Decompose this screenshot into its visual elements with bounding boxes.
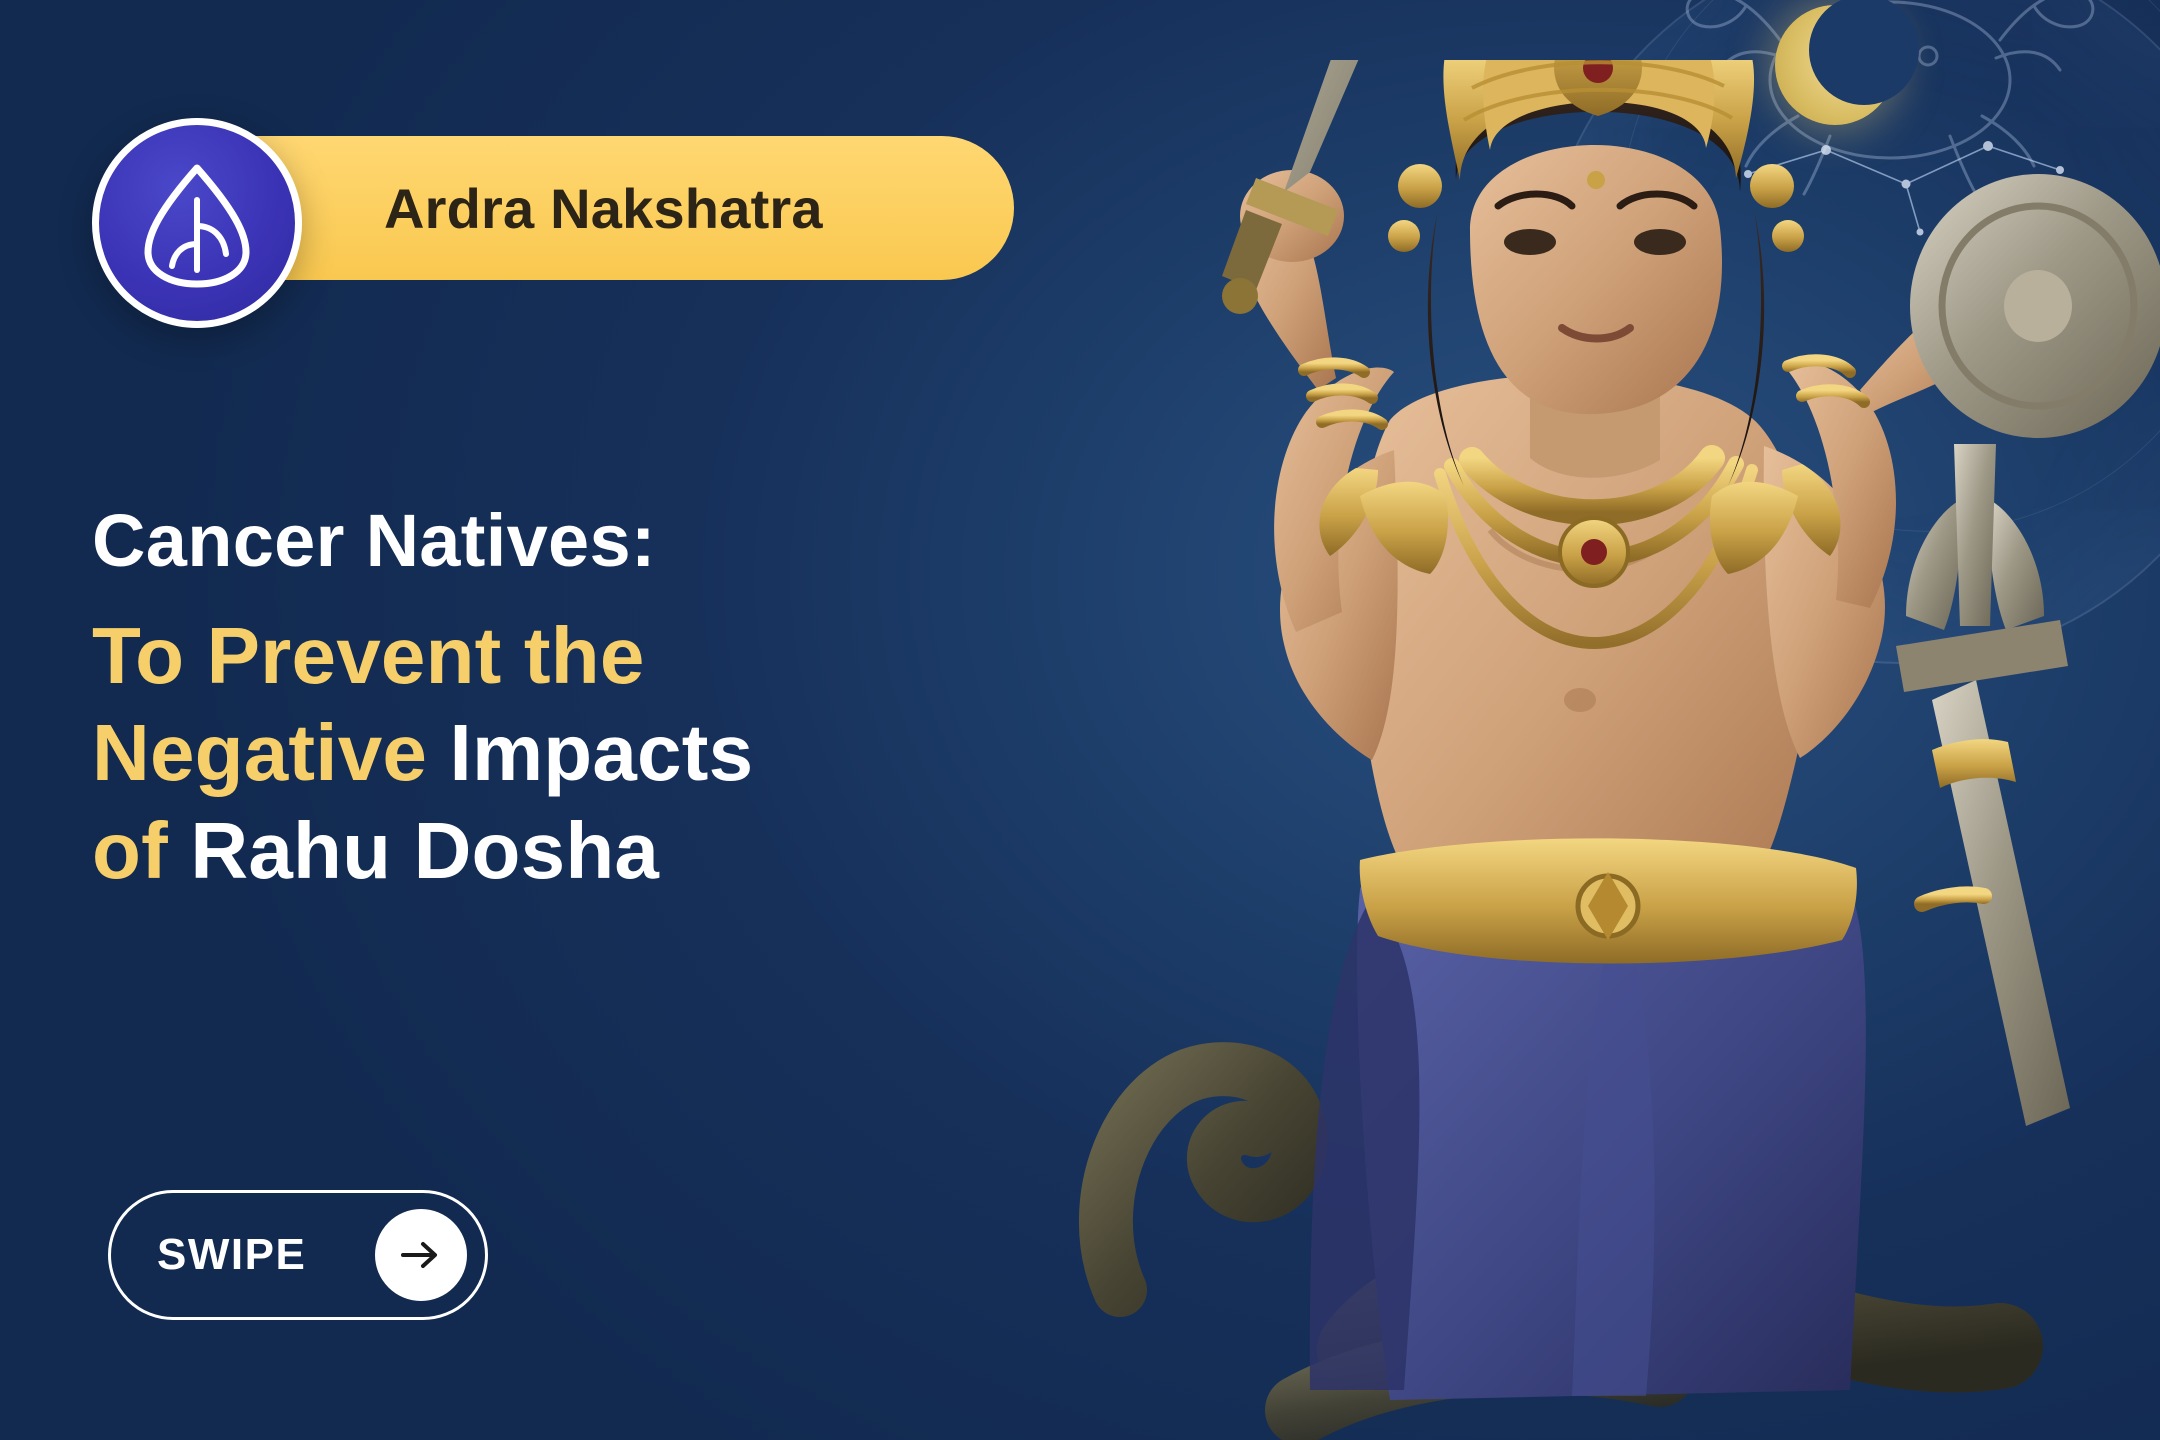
swipe-label: SWIPE [157, 1230, 306, 1280]
headline-line-4-white: Rahu Dosha [190, 806, 659, 895]
headline-line-3: Negative Impacts [92, 704, 1092, 802]
swipe-button[interactable]: SWIPE [108, 1190, 488, 1320]
rahu-deity-illustration [1060, 60, 2160, 1440]
headline-line-1: Cancer Natives: [92, 500, 1092, 583]
water-drop-leaf-logo-icon [138, 158, 256, 288]
brand-name: Ardra Nakshatra [384, 176, 823, 241]
shield-icon [1910, 174, 2160, 438]
headline-block: Cancer Natives: To Prevent the Negative … [92, 500, 1092, 900]
swipe-arrow-circle[interactable] [375, 1209, 467, 1301]
headline-line-3-gold: Negative [92, 708, 427, 797]
trident-icon [1896, 444, 2070, 1126]
headline-line-3-white: Impacts [450, 708, 754, 797]
brand-logo [92, 118, 302, 328]
arrow-right-icon [399, 1236, 443, 1274]
social-post-canvas: Ardra Nakshatra Cancer Natives: To Preve… [0, 0, 2160, 1440]
headline-line-4: of Rahu Dosha [92, 802, 1092, 900]
headline-line-4-gold: of [92, 806, 168, 895]
headline-line-2: To Prevent the [92, 607, 1092, 705]
golden-waist-belt [1360, 838, 1857, 963]
